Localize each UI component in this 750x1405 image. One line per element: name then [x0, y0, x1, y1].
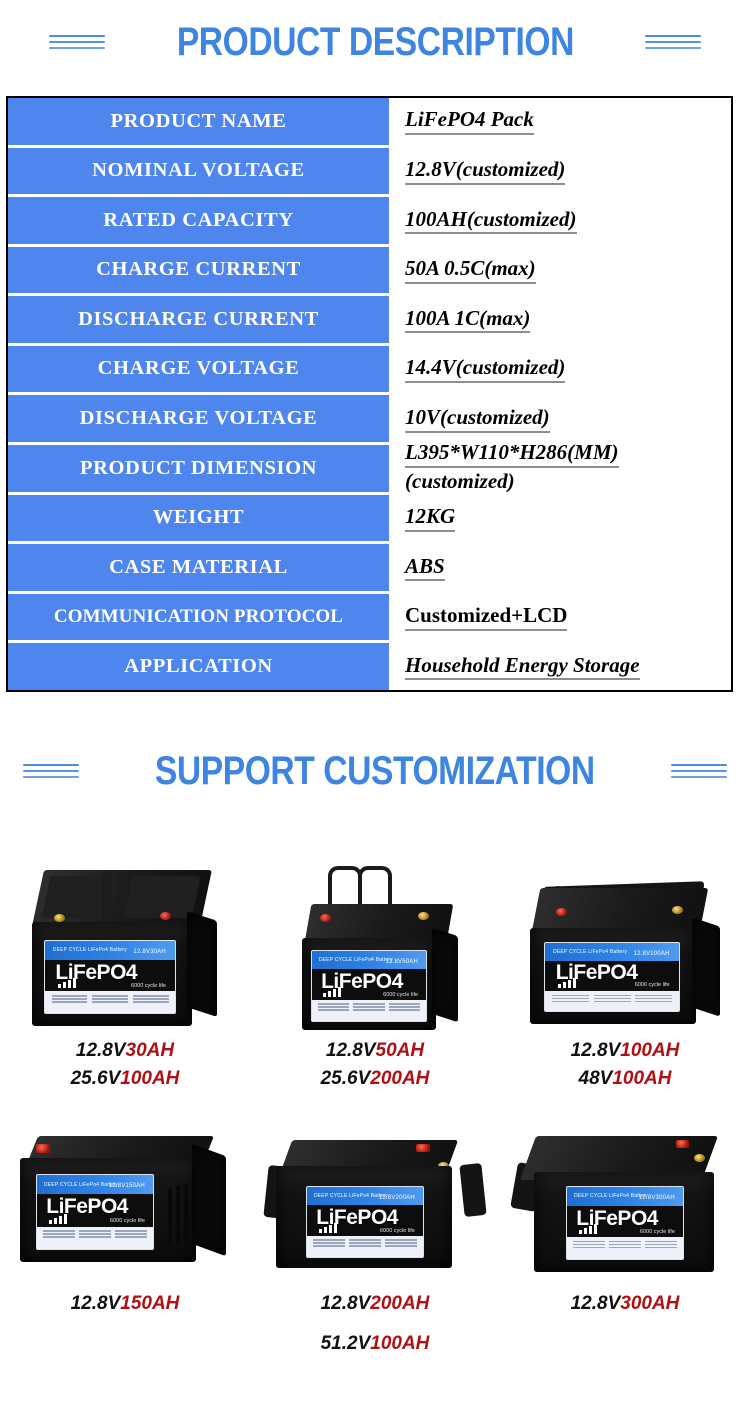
- spec-value-line: 10V(customized): [405, 405, 550, 433]
- spec-value-line: L395*W110*H286(MM): [405, 440, 619, 468]
- caption-capacity: 200AH: [370, 1068, 429, 1089]
- product-caption: 12.8V150AH: [71, 1290, 180, 1318]
- battery-label-brand-area: 12.8V100AH LiFePO4 6000 cycle life: [545, 961, 679, 991]
- spec-value: Customized+LCD: [389, 594, 731, 641]
- spec-value-line: 14.4V(customized): [405, 355, 565, 383]
- spec-value: Household Energy Storage: [389, 643, 731, 690]
- battery-label-cycle-life: 6000 cycle life: [380, 1228, 415, 1234]
- caption-capacity: 100AH: [120, 1068, 179, 1089]
- caption-capacity: 100AH: [612, 1068, 671, 1089]
- product-caption: 12.8V30AH 25.6V100AH: [71, 1037, 180, 1092]
- product-item[interactable]: DEEP CYCLE LiFePo4 Battery 12.8V50AH LiF…: [250, 862, 500, 1092]
- terminal-positive-icon: [556, 908, 567, 916]
- spec-value: 12KG: [389, 495, 731, 542]
- caption-voltage: 12.8V: [71, 1293, 121, 1314]
- caption-line: 12.8V100AH: [571, 1037, 680, 1065]
- spec-value-line: Household Energy Storage: [405, 653, 640, 681]
- table-row: RATED CAPACITY 100AH(customized): [8, 194, 731, 244]
- product-image-30ah: DEEP CYCLE LiFePo4 Battery 12.8V30AH LiF…: [10, 862, 240, 1037]
- spec-value: 50A 0.5C(max): [389, 247, 731, 294]
- charge-bars-icon: [558, 978, 576, 988]
- spec-value: ABS: [389, 544, 731, 591]
- caption-line: 25.6V200AH: [321, 1065, 430, 1093]
- spec-value-line: 12KG: [405, 504, 455, 532]
- charge-bars-icon: [323, 987, 341, 997]
- caption-capacity: 100AH: [370, 1333, 429, 1354]
- battery-label-cycle-life: 6000 cycle life: [383, 992, 418, 998]
- terminal-positive-icon: [416, 1144, 430, 1152]
- battery-label-top-text: DEEP CYCLE LiFePo4 Battery: [44, 1182, 118, 1188]
- decoration-lines-left-icon: [49, 35, 105, 49]
- battery-label: DEEP CYCLE LiFePo4 Battery 12.8V300AH Li…: [566, 1186, 684, 1260]
- table-row: CHARGE VOLTAGE 14.4V(customized): [8, 343, 731, 393]
- spec-value-line: Customized+LCD: [405, 603, 567, 631]
- product-item[interactable]: DEEP CYCLE LiFePo4 Battery 12.8V300AH Li…: [500, 1130, 750, 1357]
- caption-voltage: 48V: [579, 1068, 613, 1089]
- table-row: COMMUNICATION PROTOCOL Customized+LCD: [8, 591, 731, 641]
- battery-label: DEEP CYCLE LiFePo4 Battery 12.8V50AH LiF…: [311, 950, 427, 1022]
- battery-label-top-text: DEEP CYCLE LiFePo4 Battery: [574, 1193, 648, 1199]
- table-row: PRODUCT DIMENSION L395*W110*H286(MM) (cu…: [8, 442, 731, 492]
- spec-value-line: 100A 1C(max): [405, 306, 530, 334]
- battery-label: DEEP CYCLE LiFePo4 Battery 12.8V30AH LiF…: [44, 940, 176, 1014]
- spec-label: CHARGE CURRENT: [8, 247, 389, 294]
- battery-label-cycle-life: 6000 cycle life: [640, 1229, 675, 1235]
- product-item[interactable]: DEEP CYCLE LiFePo4 Battery 12.8V200AH Li…: [250, 1130, 500, 1357]
- charge-bars-icon: [58, 978, 76, 988]
- caption-voltage: 12.8V: [571, 1040, 621, 1061]
- terminal-positive-icon: [320, 914, 331, 922]
- caption-voltage: 25.6V: [321, 1068, 371, 1089]
- table-row: NOMINAL VOLTAGE 12.8V(customized): [8, 145, 731, 195]
- terminal-negative-icon: [672, 906, 683, 914]
- caption-line: 12.8V200AH: [321, 1290, 430, 1318]
- product-item[interactable]: DEEP CYCLE LiFePo4 Battery 12.8V100AH Li…: [500, 862, 750, 1092]
- caption-line: 12.8V50AH: [321, 1037, 430, 1065]
- spec-label: DISCHARGE VOLTAGE: [8, 395, 389, 442]
- spec-label: APPLICATION: [8, 643, 389, 690]
- product-gallery-row-2: DEEP CYCLE LiFePo4 Battery 12.8V150AH Li…: [0, 1130, 750, 1357]
- battery-label-brand-area: 12.8V150AH LiFePO4 6000 cycle life: [37, 1194, 153, 1227]
- decoration-lines-right-icon: [645, 35, 701, 49]
- caption-voltage: 12.8V: [76, 1040, 126, 1061]
- product-image-50ah: DEEP CYCLE LiFePo4 Battery 12.8V50AH LiF…: [260, 862, 490, 1037]
- caption-line: 25.6V100AH: [71, 1065, 180, 1093]
- caption-voltage: 25.6V: [71, 1068, 121, 1089]
- battery-label: DEEP CYCLE LiFePo4 Battery 12.8V150AH Li…: [36, 1174, 154, 1250]
- specification-table: PRODUCT NAME LiFePO4 Pack NOMINAL VOLTAG…: [6, 96, 733, 692]
- decoration-lines-left-icon: [23, 764, 79, 778]
- caption-line: 12.8V300AH: [571, 1290, 680, 1318]
- battery-label: DEEP CYCLE LiFePo4 Battery 12.8V200AH Li…: [306, 1186, 424, 1258]
- product-item[interactable]: DEEP CYCLE LiFePo4 Battery 12.8V30AH LiF…: [0, 862, 250, 1092]
- spec-value-line: 100AH(customized): [405, 207, 577, 235]
- spec-label: COMMUNICATION PROTOCOL: [8, 594, 389, 641]
- table-row: WEIGHT 12KG: [8, 492, 731, 542]
- charge-bars-icon: [49, 1214, 67, 1224]
- caption-capacity: 150AH: [120, 1293, 179, 1314]
- table-row: CHARGE CURRENT 50A 0.5C(max): [8, 244, 731, 294]
- spec-value: 12.8V(customized): [389, 148, 731, 195]
- caption-voltage: 12.8V: [326, 1040, 376, 1061]
- caption-voltage: 51.2V: [321, 1333, 371, 1354]
- carry-handle: [459, 1163, 486, 1217]
- battery-label-voltage: 12.8V150AH: [109, 1183, 145, 1189]
- battery-label-brand-area: 12.8V200AH LiFePO4 6000 cycle life: [307, 1205, 423, 1236]
- battery-label-cycle-life: 6000 cycle life: [635, 982, 670, 988]
- product-item[interactable]: DEEP CYCLE LiFePo4 Battery 12.8V150AH Li…: [0, 1130, 250, 1357]
- caption-capacity: 300AH: [620, 1293, 679, 1314]
- terminal-positive-icon: [160, 912, 171, 920]
- terminal-negative-icon: [418, 912, 429, 920]
- terminal-negative-icon: [54, 914, 65, 922]
- table-row: PRODUCT NAME LiFePO4 Pack: [8, 98, 731, 145]
- battery-label-specs: [545, 991, 679, 1011]
- battery-label-top-text: DEEP CYCLE LiFePo4 Battery: [319, 957, 393, 963]
- product-image-200ah: DEEP CYCLE LiFePo4 Battery 12.8V200AH Li…: [260, 1130, 490, 1290]
- terminal-positive-icon: [676, 1140, 689, 1148]
- battery-label-brand-area: 12.8V50AH LiFePO4 6000 cycle life: [312, 969, 426, 1000]
- spec-label: NOMINAL VOLTAGE: [8, 148, 389, 195]
- page-title: PRODUCT DESCRIPTION: [176, 22, 573, 62]
- battery-label-specs: [312, 1000, 426, 1021]
- caption-line: 48V100AH: [571, 1065, 680, 1093]
- spec-label: CASE MATERIAL: [8, 544, 389, 591]
- table-row: DISCHARGE CURRENT 100A 1C(max): [8, 293, 731, 343]
- battery-label-specs: [307, 1236, 423, 1257]
- spec-value: 14.4V(customized): [389, 346, 731, 393]
- battery-label-top-text: DEEP CYCLE LiFePo4 Battery: [314, 1193, 388, 1199]
- spec-value-line: 12.8V(customized): [405, 157, 565, 185]
- table-row: CASE MATERIAL ABS: [8, 541, 731, 591]
- caption-capacity: 200AH: [370, 1293, 429, 1314]
- battery-label-voltage: 12.8V100AH: [634, 951, 670, 957]
- battery-label-top-text: DEEP CYCLE LiFePo4 Battery: [553, 949, 627, 955]
- product-caption: 12.8V300AH: [571, 1290, 680, 1318]
- spec-value: 10V(customized): [389, 395, 731, 442]
- product-gallery-row-1: DEEP CYCLE LiFePo4 Battery 12.8V30AH LiF…: [0, 862, 750, 1092]
- product-caption: 12.8V50AH 25.6V200AH: [321, 1037, 430, 1092]
- spec-value: LiFePO4 Pack: [389, 98, 731, 145]
- table-row: DISCHARGE VOLTAGE 10V(customized): [8, 392, 731, 442]
- caption-capacity: 100AH: [620, 1040, 679, 1061]
- product-caption: 12.8V200AH 51.2V100AH: [321, 1290, 430, 1357]
- caption-line: 51.2V100AH: [321, 1330, 430, 1358]
- battery-label-brand-area: 12.8V30AH LiFePO4 6000 cycle life: [45, 960, 175, 992]
- product-caption: 12.8V100AH 48V100AH: [571, 1037, 680, 1092]
- spec-value-line: 50A 0.5C(max): [405, 256, 536, 284]
- spec-value-line: LiFePO4 Pack: [405, 107, 534, 135]
- caption-line: 12.8V150AH: [71, 1290, 180, 1318]
- battery-label-cycle-life: 6000 cycle life: [110, 1218, 145, 1224]
- caption-voltage: 12.8V: [571, 1293, 621, 1314]
- caption-capacity: 30AH: [126, 1040, 175, 1061]
- spec-value-line: ABS: [405, 554, 445, 582]
- product-image-100ah: DEEP CYCLE LiFePo4 Battery 12.8V100AH Li…: [510, 862, 740, 1037]
- terminal-negative-icon: [694, 1154, 705, 1162]
- terminal-positive-icon: [36, 1144, 50, 1153]
- product-description-page: PRODUCT DESCRIPTION PRODUCT NAME LiFePO4…: [0, 0, 750, 1405]
- product-image-150ah: DEEP CYCLE LiFePo4 Battery 12.8V150AH Li…: [10, 1130, 240, 1290]
- battery-label-specs: [45, 991, 175, 1013]
- spec-value: L395*W110*H286(MM) (customized): [389, 445, 731, 492]
- decoration-lines-right-icon: [671, 764, 727, 778]
- caption-voltage: 12.8V: [321, 1293, 371, 1314]
- section-header-support-customization: SUPPORT CUSTOMIZATION: [0, 745, 750, 797]
- table-row: APPLICATION Household Energy Storage: [8, 640, 731, 690]
- section-header-product-description: PRODUCT DESCRIPTION: [0, 16, 750, 68]
- battery-label-voltage: 12.8V200AH: [379, 1195, 415, 1201]
- battery-label-voltage: 12.8V300AH: [639, 1195, 675, 1201]
- spec-label: CHARGE VOLTAGE: [8, 346, 389, 393]
- spec-label: PRODUCT DIMENSION: [8, 445, 389, 492]
- battery-label-specs: [37, 1227, 153, 1249]
- battery-label-specs: [567, 1237, 683, 1259]
- spec-value: 100A 1C(max): [389, 296, 731, 343]
- spec-label: RATED CAPACITY: [8, 197, 389, 244]
- charge-bars-icon: [319, 1223, 337, 1233]
- battery-label-voltage: 12.8V50AH: [386, 959, 419, 965]
- caption-line: 12.8V30AH: [71, 1037, 180, 1065]
- spec-label: WEIGHT: [8, 495, 389, 542]
- battery-label-brand-area: 12.8V300AH LiFePO4 6000 cycle life: [567, 1206, 683, 1238]
- section-title: SUPPORT CUSTOMIZATION: [155, 751, 595, 791]
- charge-bars-icon: [579, 1224, 597, 1234]
- battery-label: DEEP CYCLE LiFePo4 Battery 12.8V100AH Li…: [544, 942, 680, 1012]
- battery-label-cycle-life: 6000 cycle life: [131, 983, 166, 989]
- spec-value: 100AH(customized): [389, 197, 731, 244]
- product-image-300ah: DEEP CYCLE LiFePo4 Battery 12.8V300AH Li…: [510, 1130, 740, 1290]
- spec-label: PRODUCT NAME: [8, 98, 389, 145]
- battery-label-top-text: DEEP CYCLE LiFePo4 Battery: [53, 947, 127, 953]
- spec-label: DISCHARGE CURRENT: [8, 296, 389, 343]
- battery-label-voltage: 12.8V30AH: [133, 949, 166, 955]
- caption-capacity: 50AH: [376, 1040, 425, 1061]
